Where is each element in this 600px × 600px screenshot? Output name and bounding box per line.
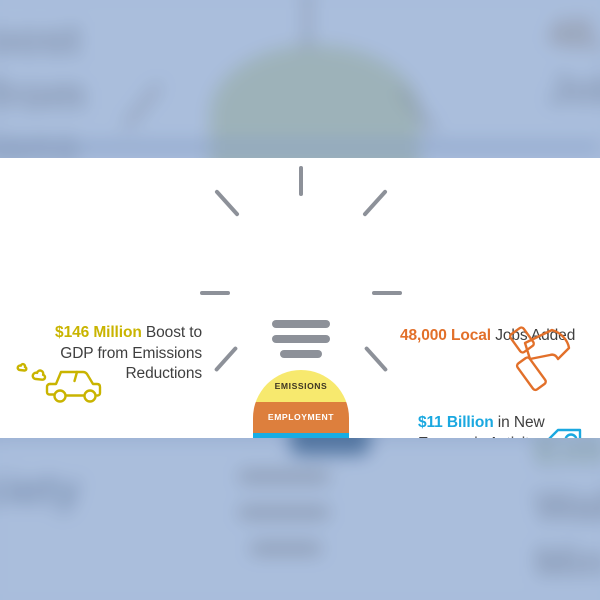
bg-ghost-word: Min xyxy=(535,538,600,586)
bulb-base-bar-2 xyxy=(272,335,330,343)
ray-top xyxy=(299,166,303,196)
callout-gdp-highlight: $146 Million xyxy=(55,324,142,341)
bulb-band-production: PRODUCTION xyxy=(253,433,349,438)
bulb-base-bar-3 xyxy=(280,350,322,358)
ray-top-left xyxy=(214,189,240,217)
ray-right xyxy=(372,291,402,295)
ray-bottom-right xyxy=(364,346,388,372)
bulb-body: EMISSIONS EMPLOYMENT PRODUCTION INCOME B… xyxy=(253,370,349,438)
hammer-icon xyxy=(508,322,582,400)
bg-ghost-word: Jobs xyxy=(548,68,600,113)
bulb-base-bar-1 xyxy=(272,320,330,328)
bg-bar xyxy=(250,542,322,555)
bg-ghost-word: ciety xyxy=(0,465,80,515)
bg-ghost-word: Wall xyxy=(535,482,600,530)
callout-jobs-highlight: 48,000 Local xyxy=(400,327,491,344)
ray-left xyxy=(200,291,230,295)
ray-bottom-left xyxy=(214,346,238,372)
bg-ghost-word: from xyxy=(0,70,86,120)
bg-bar xyxy=(238,506,330,519)
bg-strip xyxy=(0,142,600,152)
price-tag-icon xyxy=(524,426,586,438)
bulb-band-employment: EMPLOYMENT xyxy=(253,402,349,434)
light-bulb-graphic: EMISSIONS EMPLOYMENT PRODUCTION INCOME B… xyxy=(253,370,349,438)
bg-ghost-word: oost xyxy=(0,15,81,65)
ray-top-right xyxy=(362,189,388,217)
bg-ghost-word: 48, xyxy=(548,12,600,57)
callout-economic-highlight: $11 Billion xyxy=(418,414,494,431)
bg-bar xyxy=(238,470,330,483)
bulb-band-emissions: EMISSIONS xyxy=(253,370,349,402)
bg-ray xyxy=(305,0,310,50)
car-exhaust-icon xyxy=(14,354,110,406)
infographic-card: EMISSIONS EMPLOYMENT PRODUCTION INCOME B… xyxy=(0,158,600,438)
infographic-stage: oost from ions 48, Jobs ciety Extr Wall … xyxy=(0,0,600,600)
